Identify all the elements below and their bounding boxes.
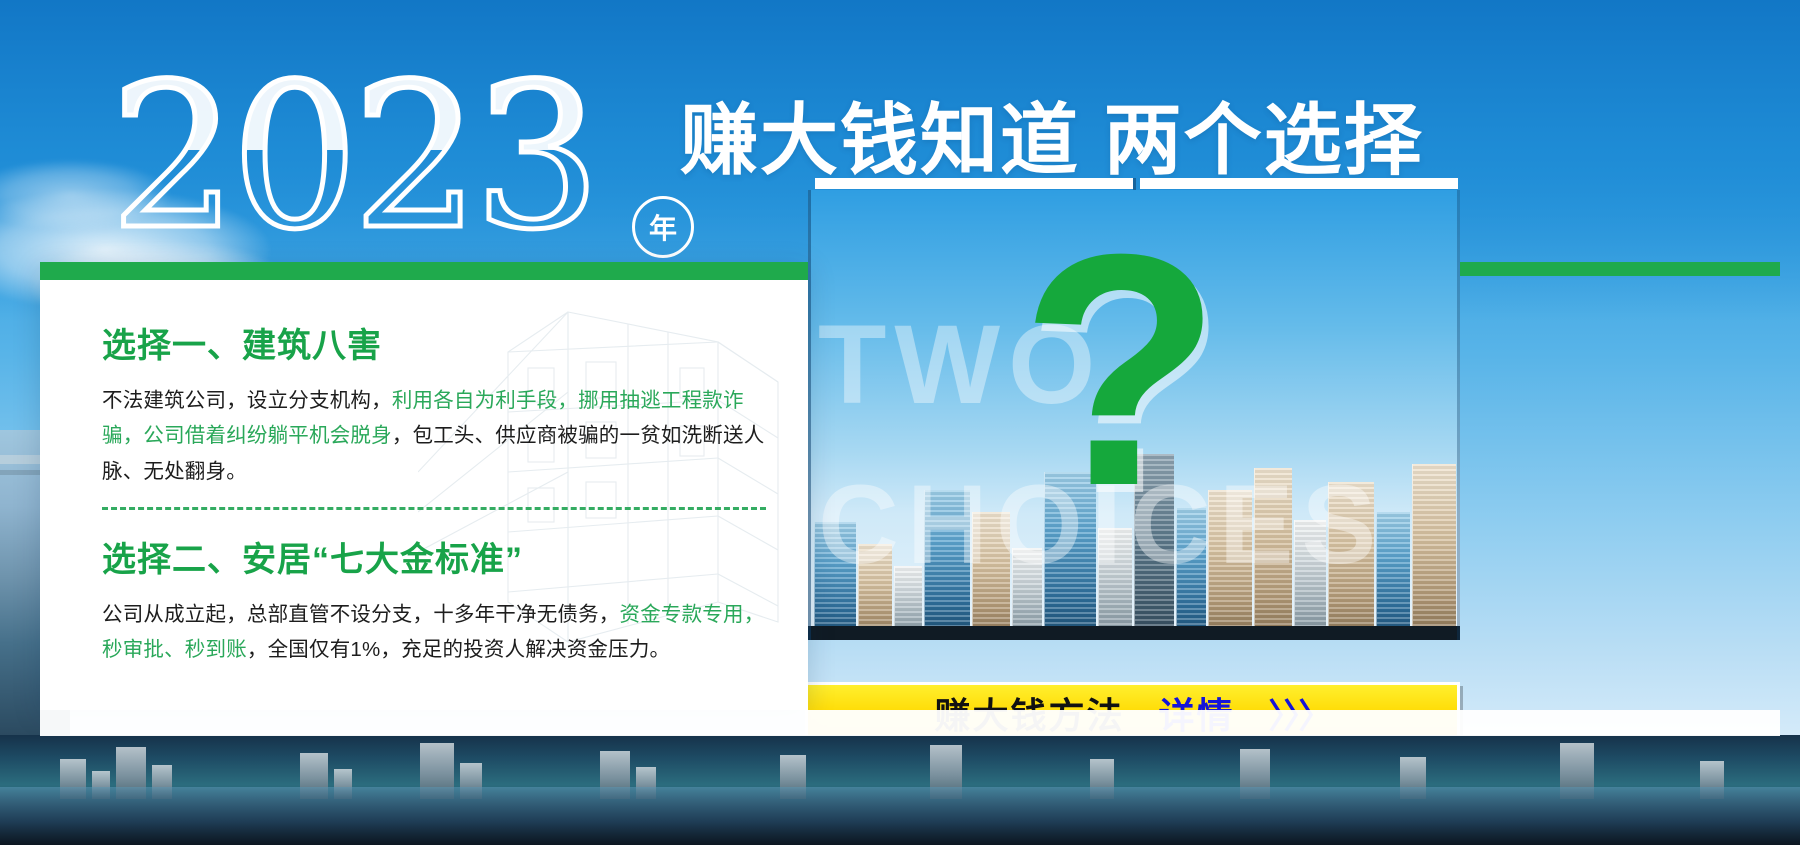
banner-stage: 2023 2023 年 赚大钱知道 两个选择 TWO C [0,0,1800,845]
right-green-accent-bar [1460,262,1780,276]
section-2-title: 选择二、安居“七大金标准” [102,532,766,581]
section-2-part-3: ，全国仅有1%，充足的投资人解决资金压力。 [247,638,670,661]
photo-panel-border-right [1457,190,1460,640]
year-unit-badge: 年 [632,196,694,258]
section-divider [102,507,766,510]
section-1-part-1: 不法建筑公司，设立分支机构， [102,389,392,412]
card-section-1: 选择一、建筑八害 不法建筑公司，设立分支机构，利用各自为利手段，挪用抽逃工程款诈… [102,318,766,489]
section-2-body: 公司从成立起，总部直管不设分支，十多年干净无债务，资金专款专用，秒审批、秒到账，… [102,597,766,668]
bottom-white-band [40,710,1780,736]
skyline-ground [808,626,1460,640]
bottom-city-strip [0,735,1800,845]
photo-panel-border-left [808,190,811,640]
page-title: 赚大钱知道 两个选择 [680,78,1424,190]
question-mark-icon: ? [1020,205,1222,535]
content-card: 选择一、建筑八害 不法建筑公司，设立分支机构，利用各自为利手段，挪用抽逃工程款诈… [40,262,808,710]
card-section-2: 选择二、安居“七大金标准” 公司从成立起，总部直管不设分支，十多年干净无债务，资… [102,532,766,668]
section-1-body: 不法建筑公司，设立分支机构，利用各自为利手段，挪用抽逃工程款诈骗，公司借着纠纷躺… [102,383,766,489]
water-reflection [0,787,1800,845]
section-2-part-1: 公司从成立起，总部直管不设分支，十多年干净无债务， [102,603,620,626]
section-1-title: 选择一、建筑八害 [102,318,766,367]
